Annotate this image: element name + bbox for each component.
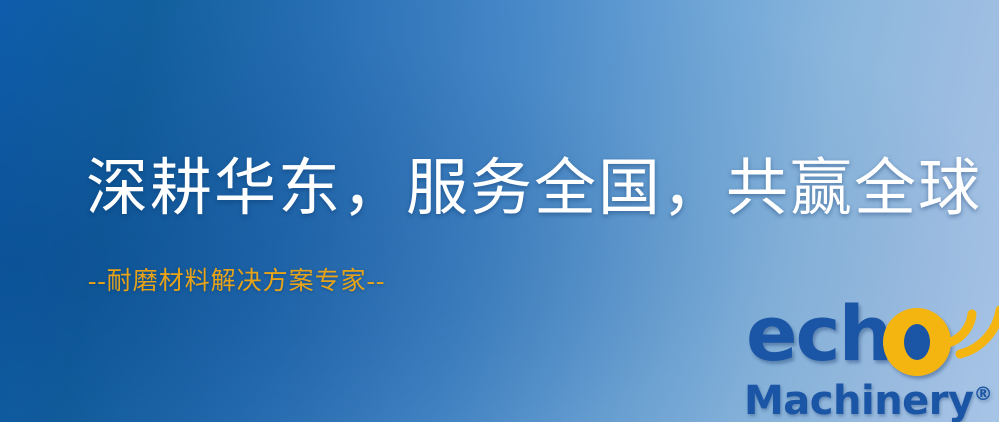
logo-machinery-text: Machinery [744, 378, 974, 422]
banner-subtitle: --耐磨材料解决方案专家-- [88, 266, 385, 298]
signal-arcs-icon [938, 288, 999, 362]
logo-sub-wordmark: Machinery® [744, 372, 993, 422]
logo-wordmark-ech: ech [746, 296, 891, 372]
banner-headline: 深耕华东，服务全国，共赢全球 [86, 152, 982, 226]
hero-banner: 深耕华东，服务全国，共赢全球 --耐磨材料解决方案专家-- ech Machin… [0, 0, 999, 422]
company-logo: ech Machinery® [742, 296, 999, 422]
registered-trademark-symbol: ® [974, 383, 993, 405]
